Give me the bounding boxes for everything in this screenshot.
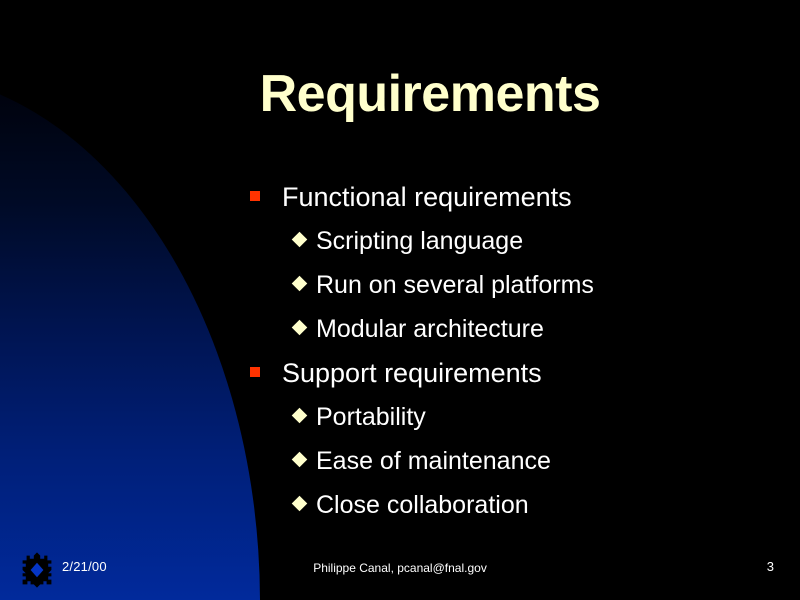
bullet-item-support-requirements: Support requirements <box>250 352 790 394</box>
diamond-bullet-icon <box>292 320 308 336</box>
bullet-item-modular-architecture: Modular architecture <box>294 308 790 350</box>
bullet-text: Run on several platforms <box>316 264 594 306</box>
square-bullet-icon <box>250 367 260 377</box>
bullet-item-portability: Portability <box>294 396 790 438</box>
bullet-item-close-collaboration: Close collaboration <box>294 484 790 526</box>
presentation-slide: Requirements Functional requirements Scr… <box>0 0 800 600</box>
bullet-item-functional-requirements: Functional requirements <box>250 176 790 218</box>
diamond-bullet-icon <box>292 408 308 424</box>
bullet-text: Scripting language <box>316 220 523 262</box>
slide-title: Requirements <box>110 68 750 120</box>
slide-body: Functional requirements Scripting langua… <box>250 176 790 528</box>
diamond-bullet-icon <box>292 496 308 512</box>
bullet-text: Modular architecture <box>316 308 544 350</box>
diamond-bullet-icon <box>292 452 308 468</box>
bullet-item-scripting-language: Scripting language <box>294 220 790 262</box>
footer-page-number: 3 <box>767 559 774 574</box>
bullet-item-ease-of-maintenance: Ease of maintenance <box>294 440 790 482</box>
square-bullet-icon <box>250 191 260 201</box>
bullet-text: Close collaboration <box>316 484 529 526</box>
bullet-text: Ease of maintenance <box>316 440 551 482</box>
bullet-text: Portability <box>316 396 426 438</box>
diamond-bullet-icon <box>292 232 308 248</box>
bullet-item-run-on-several-platforms: Run on several platforms <box>294 264 790 306</box>
footer-author: Philippe Canal, pcanal@fnal.gov <box>0 561 800 575</box>
decorative-blue-wedge <box>0 72 260 600</box>
bullet-text: Support requirements <box>282 352 542 394</box>
diamond-bullet-icon <box>292 276 308 292</box>
bullet-text: Functional requirements <box>282 176 572 218</box>
